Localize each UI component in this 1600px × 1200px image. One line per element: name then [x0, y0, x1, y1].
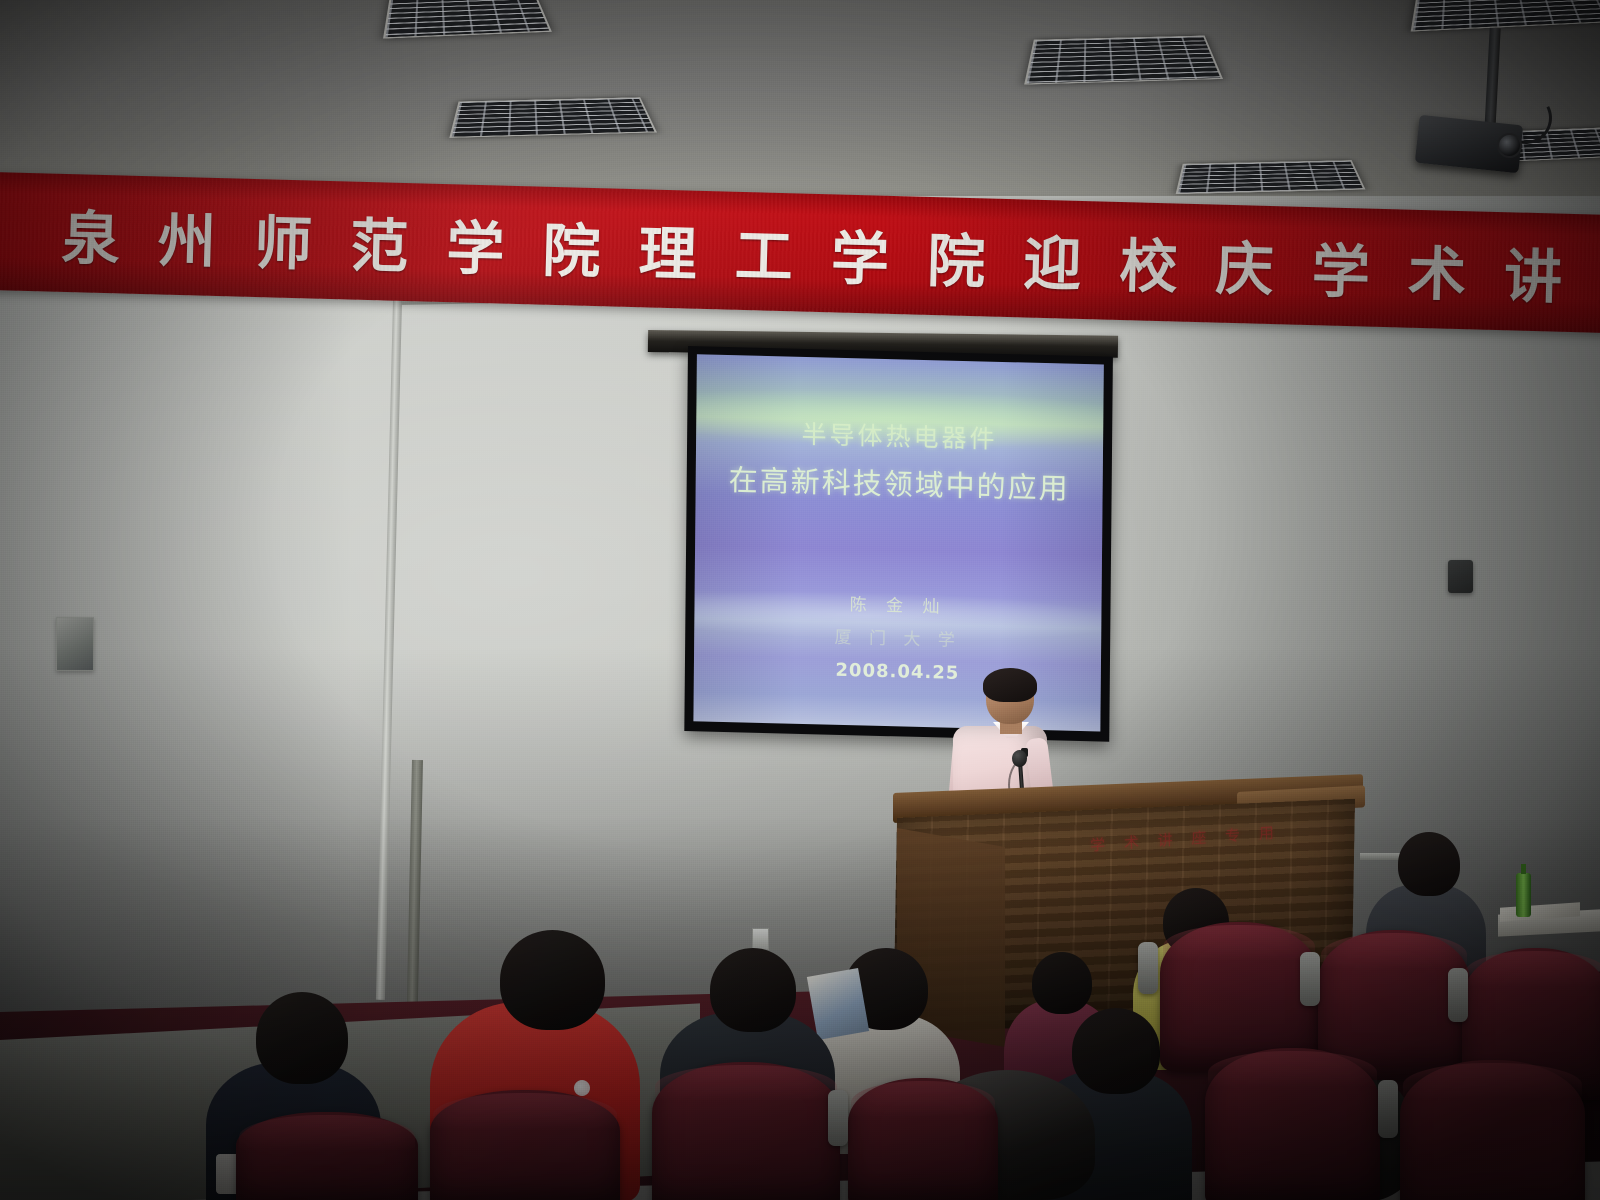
auditorium-seat[interactable] — [1205, 1048, 1380, 1200]
ceiling-light-fixture — [1176, 160, 1366, 194]
presentation-slide: 半导体热电器件 在高新科技领域中的应用 陈 金 灿 厦 门 大 学 2008.0… — [693, 354, 1103, 731]
slide-date: 2008.04.25 — [835, 660, 959, 684]
lecture-hall-photo: 泉 州 师 范 学 院 理 工 学 院 迎 校 庆 学 术 讲 座 半导体热电器… — [0, 0, 1600, 1200]
projection-screen: 半导体热电器件 在高新科技领域中的应用 陈 金 灿 厦 门 大 学 2008.0… — [684, 346, 1113, 742]
speaker-hair — [983, 668, 1037, 702]
audience-head — [1398, 832, 1460, 896]
wall-speaker-box — [1448, 560, 1473, 593]
audience-head — [1032, 952, 1092, 1014]
seat-armrest — [1138, 942, 1158, 994]
audience-head — [710, 948, 796, 1032]
ceiling-light-fixture — [1024, 36, 1223, 85]
wall-switch[interactable] — [752, 928, 769, 950]
green-tea-bottle — [1516, 873, 1531, 917]
audience-head — [500, 930, 605, 1030]
slide-title-line1: 半导体热电器件 — [801, 415, 997, 456]
shirt-logo-icon — [574, 1080, 590, 1096]
auditorium-seat[interactable] — [430, 1090, 620, 1200]
wall-access-panel — [56, 617, 94, 671]
seat-armrest — [1300, 952, 1320, 1006]
audience-head — [256, 992, 348, 1084]
projection-screen-surface: 半导体热电器件 在高新科技领域中的应用 陈 金 灿 厦 门 大 学 2008.0… — [693, 354, 1103, 731]
microphone-icon — [1012, 750, 1027, 767]
auditorium-seat[interactable] — [1400, 1060, 1585, 1200]
seat-armrest — [1448, 968, 1468, 1022]
ceiling — [0, 0, 1600, 200]
leaflet — [807, 968, 869, 1040]
auditorium-seat[interactable] — [652, 1062, 840, 1200]
auditorium-seat[interactable] — [848, 1078, 998, 1200]
slide-affiliation: 厦 门 大 学 — [835, 623, 961, 651]
seat-armrest — [828, 1090, 848, 1146]
seat-armrest — [1378, 1080, 1398, 1138]
auditorium-seat[interactable] — [236, 1112, 418, 1200]
audience-head — [1072, 1008, 1160, 1094]
ceiling-light-fixture — [449, 97, 657, 138]
slide-author: 陈 金 灿 — [850, 590, 947, 617]
slide-title-line2: 在高新科技领域中的应用 — [729, 457, 1070, 508]
